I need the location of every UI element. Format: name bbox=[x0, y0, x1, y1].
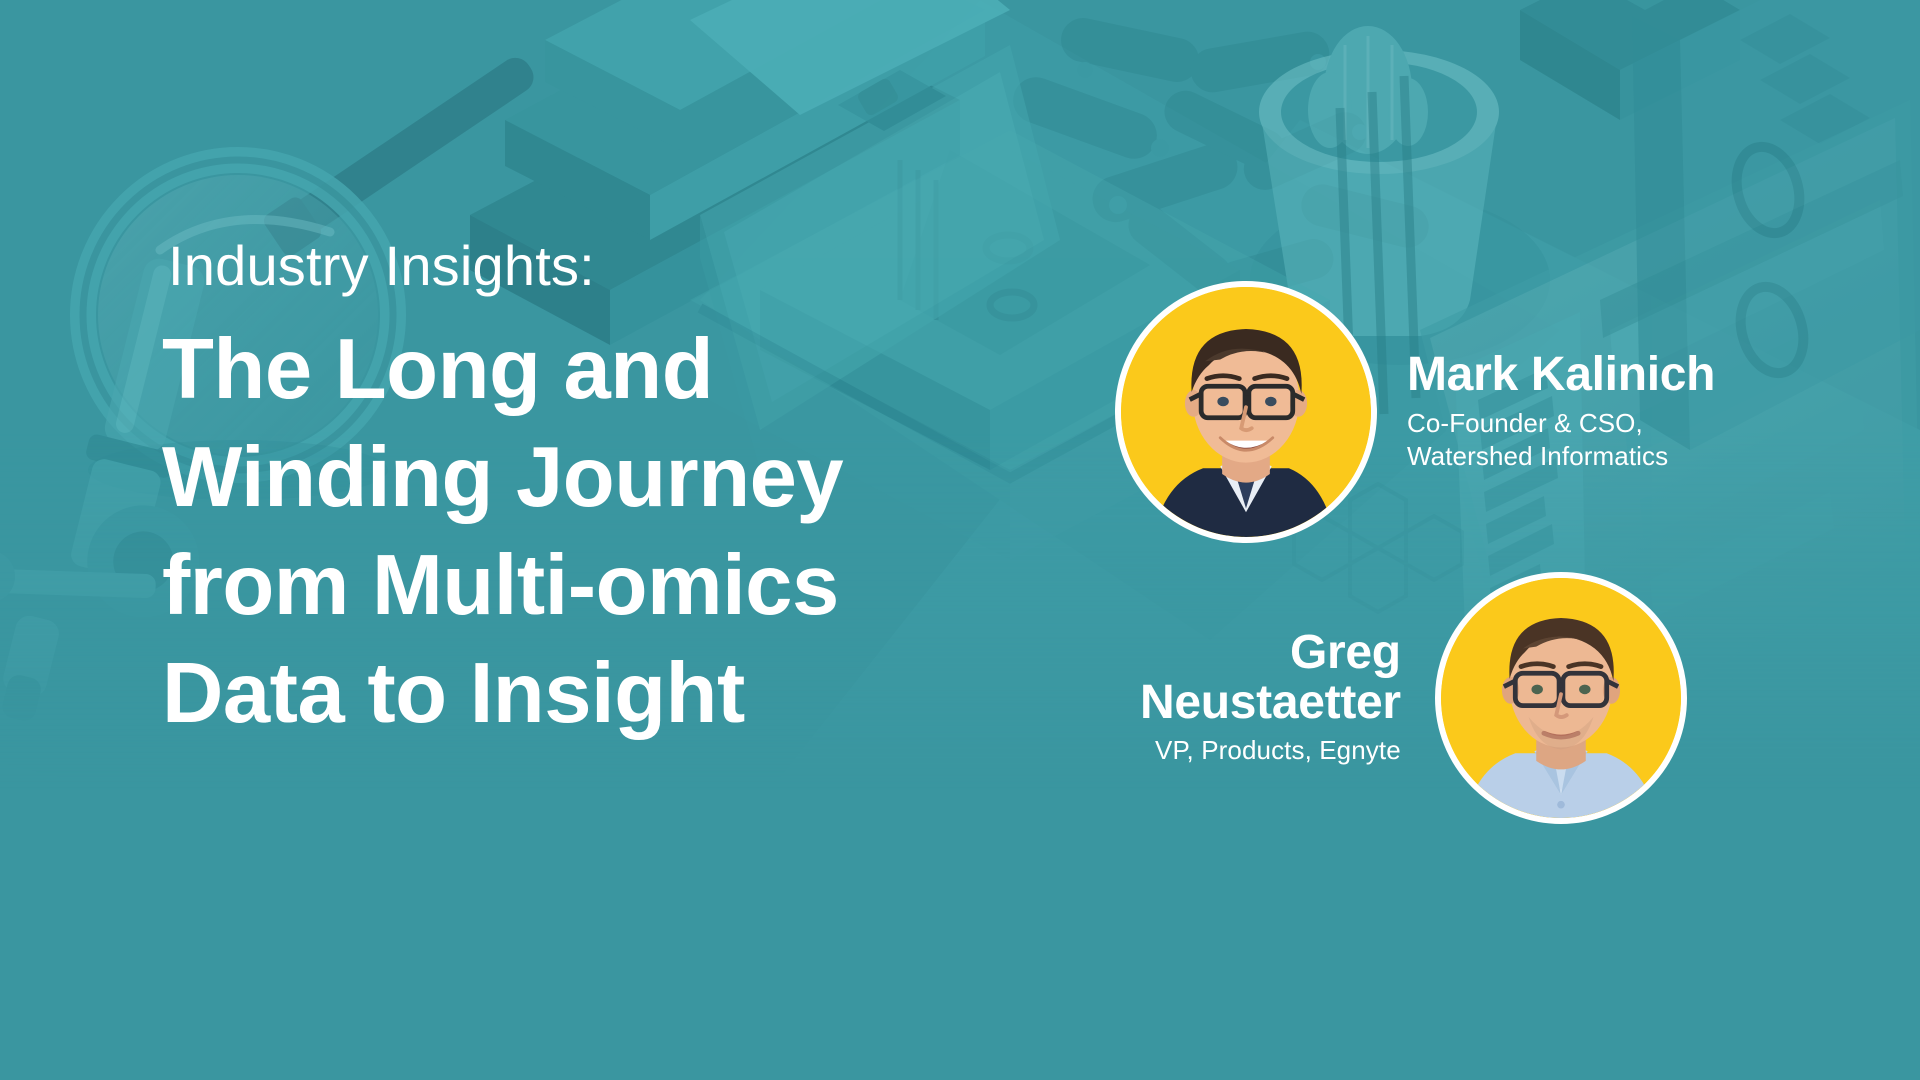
headline-line-2: Winding Journey bbox=[162, 424, 1122, 532]
speaker-card-greg-neustaetter: Greg Neustaetter VP, Products, Egnyte bbox=[1140, 572, 1687, 824]
headline-block: Industry Insights: The Long and Winding … bbox=[162, 238, 1122, 748]
page-title: The Long and Winding Journey from Multi-… bbox=[162, 316, 1122, 748]
webinar-promo-banner: Industry Insights: The Long and Winding … bbox=[0, 0, 1920, 1080]
speaker-meta-mark-kalinich: Mark Kalinich Co-Founder & CSO, Watershe… bbox=[1407, 350, 1715, 473]
headline-line-1: The Long and bbox=[162, 316, 1122, 424]
speaker-name: Mark Kalinich bbox=[1407, 350, 1715, 400]
speaker-title: VP, Products, Egnyte bbox=[1140, 734, 1401, 767]
avatar-greg-neustaetter bbox=[1435, 572, 1687, 824]
speaker-meta-greg-neustaetter: Greg Neustaetter VP, Products, Egnyte bbox=[1140, 628, 1401, 767]
speaker-name: Greg Neustaetter bbox=[1140, 628, 1401, 727]
headline-line-4: Data to Insight bbox=[162, 640, 1122, 748]
avatar-mark-kalinich bbox=[1115, 281, 1377, 543]
speaker-card-mark-kalinich: Mark Kalinich Co-Founder & CSO, Watershe… bbox=[1115, 281, 1715, 543]
eyebrow-text: Industry Insights: bbox=[168, 238, 1122, 294]
speaker-title: Co-Founder & CSO, Watershed Informatics bbox=[1407, 407, 1715, 474]
headline-line-3: from Multi-omics bbox=[162, 532, 1122, 640]
